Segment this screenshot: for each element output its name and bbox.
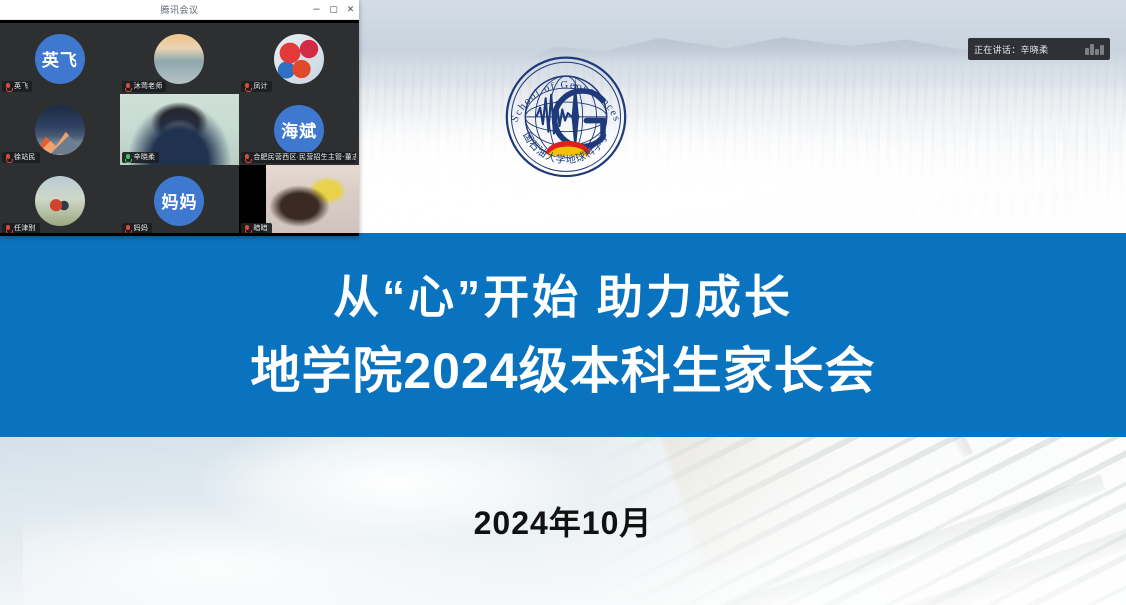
participant-tile[interactable]: 任津别 xyxy=(0,165,120,236)
participant-tile[interactable]: 沐莺老师 xyxy=(120,23,240,94)
mic-muted-icon xyxy=(5,225,11,233)
participant-tile[interactable]: 海斌 合肥民营西区·民营招生主管-董志斌 xyxy=(239,94,359,165)
slide-title-line-1: 从“心”开始 助力成长 xyxy=(333,273,793,321)
participant-namebar: 英飞 xyxy=(2,81,32,92)
school-of-geosciences-logo: School of Geosciences 中国石油大学地球科学学院 xyxy=(492,36,640,194)
active-speaker-indicator: 正在讲话：辛晓柔 xyxy=(968,38,1110,60)
avatar xyxy=(274,34,324,84)
slide-title-line-2: 地学院2024级本科生家长会 xyxy=(250,345,875,398)
participant-tile[interactable]: 妈妈 妈妈 xyxy=(120,165,240,236)
participant-namebar: 沐莺老师 xyxy=(122,81,167,92)
participant-name: 任津别 xyxy=(14,225,36,232)
meeting-video-area: 英飞 英飞 沐莺老师 xyxy=(0,20,359,236)
mic-muted-icon xyxy=(244,83,250,91)
participant-name: 合肥民营西区·民营招生主管-董志斌 xyxy=(253,154,356,161)
mic-muted-icon xyxy=(5,154,11,162)
tencent-meeting-window[interactable]: 腾讯会议 – ▢ ✕ 英飞 英飞 xyxy=(0,0,359,236)
mic-on-icon xyxy=(125,154,131,162)
meeting-title-bar[interactable]: 腾讯会议 – ▢ ✕ xyxy=(0,0,359,20)
participant-namebar: 凤计 xyxy=(241,81,271,92)
participant-name: 暗暗 xyxy=(253,225,267,232)
participant-namebar: 合肥民营西区·民营招生主管-董志斌 xyxy=(241,152,356,163)
participant-grid: 英飞 英飞 沐莺老师 xyxy=(0,23,359,236)
avatar xyxy=(35,176,85,226)
title-band: 从“心”开始 助力成长 地学院2024级本科生家长会 xyxy=(0,233,1126,437)
active-speaker-label: 正在讲话：辛晓柔 xyxy=(974,43,1048,56)
slide-date: 2024年10月 xyxy=(0,498,1126,544)
participant-namebar: 辛晓柔 xyxy=(122,152,160,163)
presentation-slide: School of Geosciences 中国石油大学地球科学学院 正在讲话：… xyxy=(0,0,1126,605)
audio-wave-icon xyxy=(1085,43,1104,55)
participant-name: 凤计 xyxy=(253,83,267,90)
participant-tile[interactable]: 英飞 英飞 xyxy=(0,23,120,94)
avatar: 英飞 xyxy=(35,34,85,84)
video-feed xyxy=(266,165,359,236)
mic-muted-icon xyxy=(5,83,11,91)
meeting-app-title: 腾讯会议 xyxy=(0,3,359,16)
participant-name: 沐莺老师 xyxy=(134,83,163,90)
meeting-footer-strip xyxy=(0,233,359,236)
participant-tile[interactable]: 暗暗 xyxy=(239,165,359,236)
mic-muted-icon xyxy=(244,154,250,162)
avatar: 妈妈 xyxy=(154,176,204,226)
participant-tile[interactable]: 凤计 xyxy=(239,23,359,94)
red-rooftops xyxy=(743,193,1081,227)
mic-muted-icon xyxy=(125,83,131,91)
participant-name: 妈妈 xyxy=(134,225,148,232)
participant-tile[interactable]: 徐站民 xyxy=(0,94,120,165)
participant-name: 徐站民 xyxy=(14,154,36,161)
participant-name: 英飞 xyxy=(14,83,28,90)
mic-muted-icon xyxy=(125,225,131,233)
participant-namebar: 徐站民 xyxy=(2,152,40,163)
mic-muted-icon xyxy=(244,225,250,233)
avatar xyxy=(154,34,204,84)
participant-name: 辛晓柔 xyxy=(134,154,156,161)
participant-tile-active-speaker[interactable]: 辛晓柔 xyxy=(120,94,240,165)
avatar xyxy=(35,105,85,155)
avatar: 海斌 xyxy=(274,105,324,155)
